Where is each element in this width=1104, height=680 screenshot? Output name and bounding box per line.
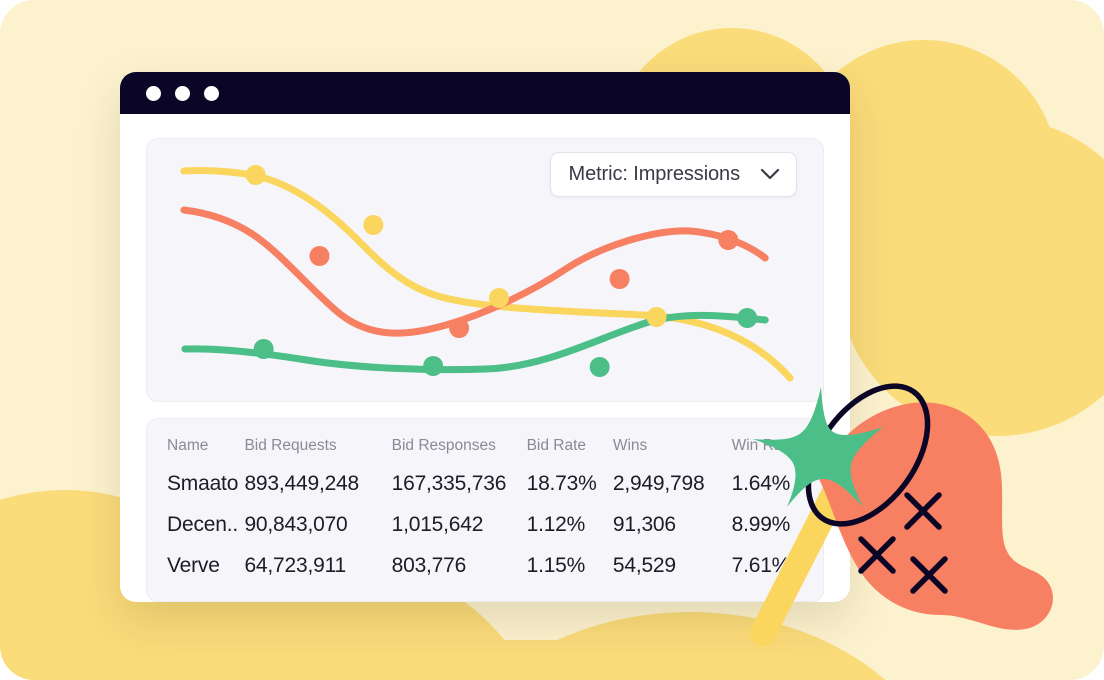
data-point-yellow[interactable] [647,307,667,327]
maximize-dot[interactable] [204,86,219,101]
data-point-orange[interactable] [449,318,469,338]
data-point-green[interactable] [737,308,757,328]
cell-name: Smaato [147,464,244,505]
data-point-orange[interactable] [310,246,330,266]
column-header-bid-responses[interactable]: Bid Responses [392,437,527,464]
close-dot[interactable] [146,86,161,101]
table-row[interactable]: Smaato 893,449,248 167,335,736 18.73% 2,… [147,464,823,505]
data-point-orange[interactable] [610,269,630,289]
series-line-green [185,315,765,369]
metrics-table: Name Bid Requests Bid Responses Bid Rate… [147,437,823,587]
data-point-orange[interactable] [718,230,738,250]
minimize-dot[interactable] [175,86,190,101]
column-header-wins[interactable]: Wins [613,437,732,464]
metrics-table-card: Name Bid Requests Bid Responses Bid Rate… [146,418,824,602]
metric-select-label: Metric: Impressions [569,163,740,186]
cell-bid-responses: 803,776 [392,546,527,587]
cell-bid-rate: 18.73% [527,464,613,505]
table-row[interactable]: Decen.. 90,843,070 1,015,642 1.12% 91,30… [147,505,823,546]
column-header-bid-requests[interactable]: Bid Requests [244,437,391,464]
series-line-yellow [184,170,790,378]
cell-wins: 91,306 [613,505,732,546]
cell-name: Decen.. [147,505,244,546]
cell-bid-responses: 1,015,642 [392,505,527,546]
data-point-yellow[interactable] [246,165,266,185]
background-blob-bottom-fill [0,640,640,680]
metric-select-dropdown[interactable]: Metric: Impressions [550,152,797,197]
data-point-yellow[interactable] [363,215,383,235]
cell-bid-requests: 90,843,070 [244,505,391,546]
window-titlebar [120,72,850,114]
cell-bid-requests: 64,723,911 [244,546,391,587]
background-blob-cloud-joint [862,150,902,330]
table-row[interactable]: Verve 64,723,911 803,776 1.15% 54,529 7.… [147,546,823,587]
data-point-yellow[interactable] [489,288,509,308]
screenshot-root: Metric: Impressions Name [0,0,1104,680]
cell-bid-responses: 167,335,736 [392,464,527,505]
chart-panel: Metric: Impressions [146,138,824,402]
column-header-name[interactable]: Name [147,437,244,464]
data-point-green[interactable] [254,339,274,359]
table-header-row: Name Bid Requests Bid Responses Bid Rate… [147,437,823,464]
cell-bid-rate: 1.15% [527,546,613,587]
data-point-green[interactable] [590,357,610,377]
butterfly-net-illustration [735,375,1075,660]
cell-wins: 2,949,798 [613,464,732,505]
chevron-down-icon [760,168,780,181]
cell-bid-rate: 1.12% [527,505,613,546]
cell-name: Verve [147,546,244,587]
data-point-green[interactable] [423,356,443,376]
cell-bid-requests: 893,449,248 [244,464,391,505]
cell-wins: 54,529 [613,546,732,587]
column-header-bid-rate[interactable]: Bid Rate [527,437,613,464]
